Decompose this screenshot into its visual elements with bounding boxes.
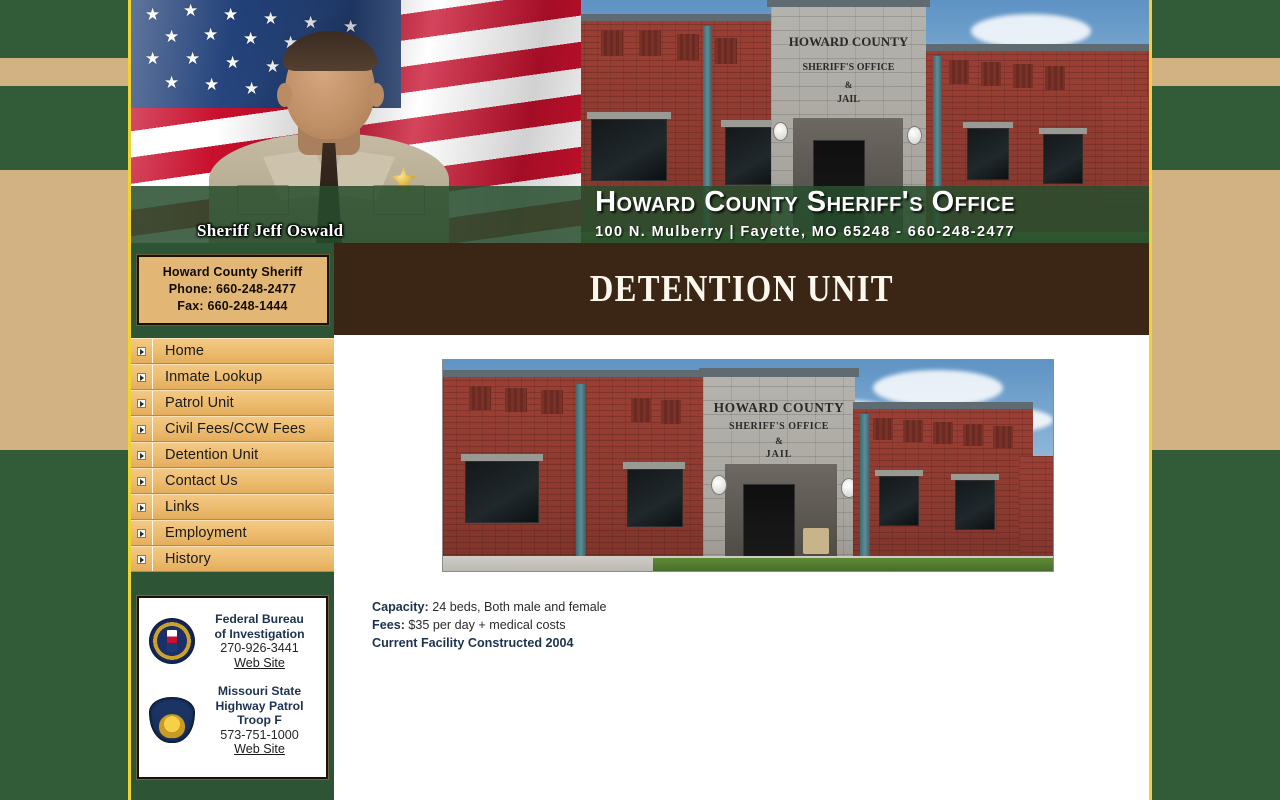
facility-facts: Capacity: 24 beds, Both male and female … (372, 598, 1149, 652)
sidebar-item-contact-us[interactable]: Contact Us (131, 468, 334, 494)
office-address: 100 N. Mulberry | Fayette, MO 65248 - 66… (461, 224, 1149, 240)
page-title: DETENTION UNIT (589, 267, 893, 311)
page-title-bar: DETENTION UNIT (334, 243, 1149, 335)
arrow-bullet-icon (131, 521, 153, 545)
arrow-bullet-icon (131, 443, 153, 467)
main-content: DETENTION UNIT (334, 243, 1149, 800)
sidebar-item-label: Inmate Lookup (153, 369, 262, 385)
sidebar-item-label: Contact Us (153, 473, 238, 489)
building-sign-line3: & (707, 436, 851, 446)
arrow-bullet-icon (131, 365, 153, 389)
agency-name-line1: Federal Bureau (201, 612, 318, 627)
contact-fax: Fax: 660-248-1444 (139, 298, 327, 315)
agency-link-text: Federal Bureau of Investigation 270-926-… (201, 612, 322, 670)
office-title: Howard County Sheriff's Office (461, 186, 1149, 222)
fact-capacity-label: Capacity: (372, 600, 429, 614)
agency-website-link[interactable]: Web Site (201, 742, 318, 757)
page-container: ★ ★ ★ ★ ★ ★ ★ ★ ★ ★ ★ ★ ★ ★ ★ ★ ★ ★ ★ ★ (128, 0, 1152, 800)
content-body: HOWARD COUNTY SHERIFF'S OFFICE & JAIL (334, 335, 1149, 652)
sidebar-item-home[interactable]: Home (131, 338, 334, 364)
building-sign-line1: HOWARD COUNTY (707, 400, 851, 416)
building-sign-line2: SHERIFF'S OFFICE (707, 421, 851, 432)
agency-phone: 573-751-1000 (201, 728, 318, 743)
agency-links-box: Federal Bureau of Investigation 270-926-… (137, 596, 328, 779)
detention-facility-photo: HOWARD COUNTY SHERIFF'S OFFICE & JAIL (442, 359, 1054, 572)
fact-constructed: Current Facility Constructed 2004 (372, 634, 1149, 652)
sidebar-item-patrol-unit[interactable]: Patrol Unit (131, 390, 334, 416)
fbi-seal-icon (149, 618, 195, 664)
agency-link-fbi[interactable]: Federal Bureau of Investigation 270-926-… (143, 608, 322, 680)
sidebar-item-label: Home (153, 343, 204, 359)
agency-link-text: Missouri State Highway Patrol Troop F 57… (201, 684, 322, 757)
sidebar-item-detention-unit[interactable]: Detention Unit (131, 442, 334, 468)
sidebar-item-label: Patrol Unit (153, 395, 234, 411)
arrow-bullet-icon (131, 495, 153, 519)
fact-fees-label: Fees: (372, 618, 405, 632)
fact-capacity: Capacity: 24 beds, Both male and female (372, 598, 1149, 616)
page-body: Howard County Sheriff Phone: 660-248-247… (131, 243, 1149, 800)
sidebar-item-employment[interactable]: Employment (131, 520, 334, 546)
main-navigation: Home Inmate Lookup Patrol Unit Civil Fee… (131, 338, 334, 572)
agency-name-line1: Missouri State (201, 684, 318, 699)
site-masthead: ★ ★ ★ ★ ★ ★ ★ ★ ★ ★ ★ ★ ★ ★ ★ ★ ★ ★ ★ ★ (131, 0, 1149, 243)
sidebar-item-history[interactable]: History (131, 546, 334, 572)
sidebar-item-label: Civil Fees/CCW Fees (153, 421, 305, 437)
agency-website-link[interactable]: Web Site (201, 656, 318, 671)
sheriff-name-label: Sheriff Jeff Oswald (197, 221, 343, 241)
fact-fees-value: $35 per day + medical costs (405, 618, 566, 632)
fact-capacity-value: 24 beds, Both male and female (429, 600, 607, 614)
sidebar-item-label: Detention Unit (153, 447, 258, 463)
sidebar-item-inmate-lookup[interactable]: Inmate Lookup (131, 364, 334, 390)
sheriff-contact-box: Howard County Sheriff Phone: 660-248-247… (137, 255, 329, 325)
sidebar-item-civil-fees-ccw-fees[interactable]: Civil Fees/CCW Fees (131, 416, 334, 442)
fact-fees: Fees: $35 per day + medical costs (372, 616, 1149, 634)
arrow-bullet-icon (131, 547, 153, 571)
fact-constructed-label: Current Facility Constructed 2004 (372, 636, 574, 650)
contact-office-name: Howard County Sheriff (139, 264, 327, 281)
agency-name-line3: Troop F (201, 713, 318, 728)
agency-link-mshp[interactable]: Missouri State Highway Patrol Troop F 57… (143, 680, 322, 767)
sidebar-item-label: Links (153, 499, 199, 515)
agency-name-line2: of Investigation (201, 627, 318, 642)
contact-phone: Phone: 660-248-2477 (139, 281, 327, 298)
arrow-bullet-icon (131, 417, 153, 441)
agency-name-line2: Highway Patrol (201, 699, 318, 714)
sidebar-item-links[interactable]: Links (131, 494, 334, 520)
sidebar-item-label: History (153, 551, 211, 567)
building-sign-line4: JAIL (707, 449, 851, 460)
missouri-state-highway-patrol-seal-icon (149, 697, 195, 743)
arrow-bullet-icon (131, 339, 153, 363)
sidebar: Howard County Sheriff Phone: 660-248-247… (131, 243, 334, 800)
arrow-bullet-icon (131, 469, 153, 493)
sidebar-item-label: Employment (153, 525, 247, 541)
arrow-bullet-icon (131, 391, 153, 415)
agency-phone: 270-926-3441 (201, 641, 318, 656)
